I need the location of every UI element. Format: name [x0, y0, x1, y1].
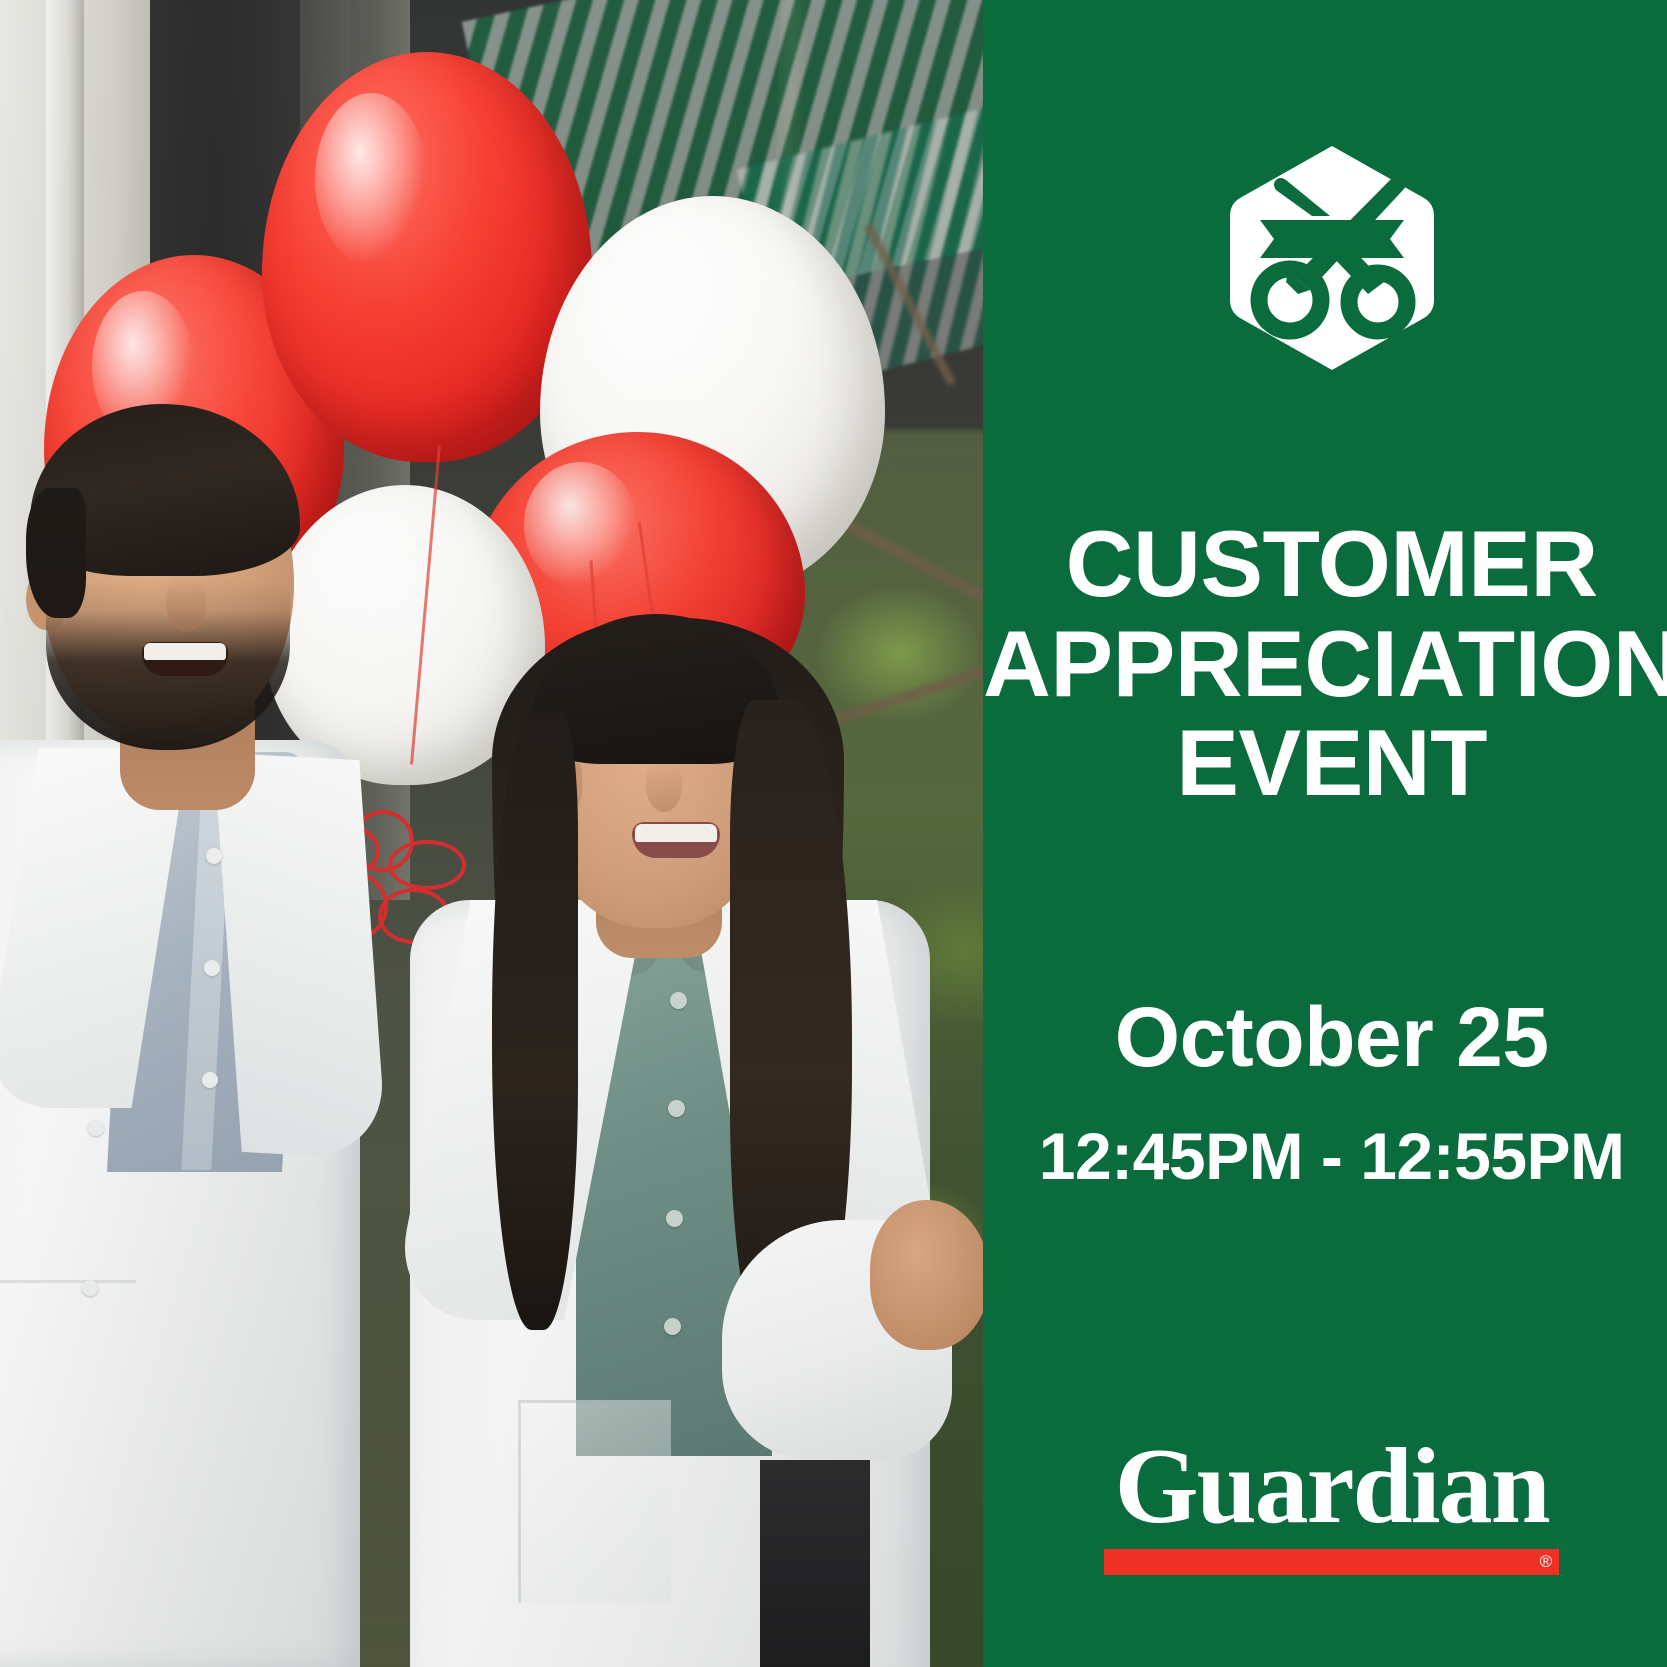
- event-time: 12:45PM - 12:55PM: [983, 1123, 1667, 1189]
- guardian-logo: Guardian ®: [983, 1433, 1667, 1575]
- coat-button: [82, 1280, 98, 1296]
- page-title: CUSTOMER APPRECIATION EVENT: [983, 514, 1667, 813]
- shirt-button: [206, 848, 222, 864]
- trousers: [760, 1460, 870, 1667]
- ribbon-cutting-scissors-hexagon-icon: [1218, 142, 1446, 374]
- mouth: [142, 642, 228, 676]
- registered-trademark-icon: ®: [1540, 1552, 1553, 1572]
- event-date: October 25: [983, 995, 1667, 1079]
- shirt-button: [202, 1072, 218, 1088]
- logo-wordmark: Guardian: [1115, 1433, 1549, 1541]
- teeth: [635, 824, 717, 842]
- hair-side-left: [492, 710, 578, 1330]
- clasped-hands: [870, 1200, 983, 1350]
- coat-pocket: [0, 1280, 136, 1473]
- shirt-button: [204, 960, 220, 976]
- nose: [646, 760, 682, 812]
- pharmacist-man: [0, 400, 400, 1667]
- blouse-button: [666, 1210, 683, 1227]
- event-info-panel: CUSTOMER APPRECIATION EVENT October 25 1…: [983, 0, 1667, 1667]
- customer-appreciation-event-poster: CUSTOMER APPRECIATION EVENT October 25 1…: [0, 0, 1667, 1667]
- blouse-button: [664, 1318, 681, 1335]
- mouth: [632, 822, 720, 858]
- event-photo: [0, 0, 983, 1667]
- blouse-button: [670, 992, 687, 1009]
- coat-pocket: [518, 1400, 671, 1603]
- logo-underline-bar: ®: [1104, 1549, 1559, 1575]
- title-line-3: EVENT: [983, 713, 1667, 813]
- hair-side: [26, 488, 86, 618]
- pharmacist-woman: [400, 600, 983, 1667]
- blouse-button: [668, 1100, 685, 1117]
- nose: [166, 576, 206, 632]
- coat-button: [88, 1120, 104, 1136]
- title-line-2: APPRECIATION: [983, 614, 1667, 714]
- title-line-1: CUSTOMER: [983, 514, 1667, 614]
- teeth: [144, 643, 226, 660]
- coat-lapel-right: [214, 752, 388, 1159]
